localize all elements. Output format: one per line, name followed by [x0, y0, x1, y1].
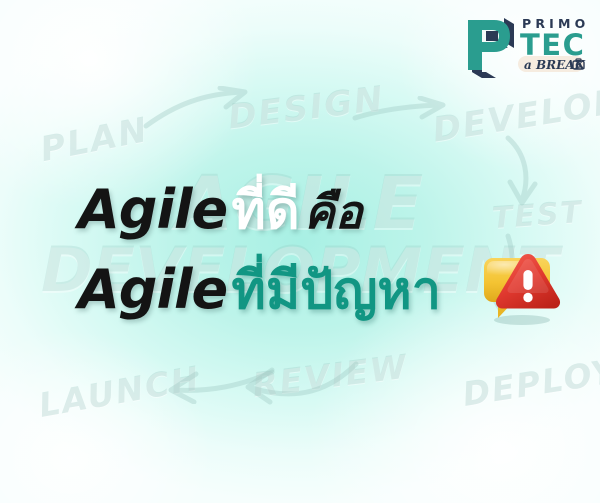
exclamation-dot-icon — [523, 293, 532, 302]
watermark-step-plan: PLAN — [37, 110, 152, 170]
headline-kue: คือ — [304, 185, 362, 239]
headline-thi-dee: ที่ดี — [232, 181, 300, 241]
logo-p-mark-icon — [468, 18, 514, 78]
watermark-step-develop: DEVELOP — [430, 81, 600, 150]
poster-canvas: AGILE DEVELOPMENT PLAN DESIGN DEVELOP TE… — [0, 0, 600, 503]
warning-speech-bubble-emoji — [478, 248, 564, 328]
exclamation-bar-icon — [523, 270, 532, 290]
watermark-step-review: REVIEW — [250, 347, 410, 405]
watermark-step-design: DESIGN — [226, 79, 387, 138]
watermark-step-launch: LAUNCH — [36, 358, 204, 425]
emoji-shadow — [494, 315, 550, 325]
primo-tech-a-break-logo[interactable]: PRIMO TECH a BREAK — [460, 8, 588, 80]
headline-agile-1: Agile — [78, 178, 227, 241]
light-wash-bottom-left — [0, 333, 210, 503]
watermark-step-deploy: DEPLOY — [460, 351, 600, 414]
headline-agile-2: Agile — [78, 258, 227, 321]
headline-thi-mee-panha: ที่มีปัญหา — [232, 261, 441, 321]
